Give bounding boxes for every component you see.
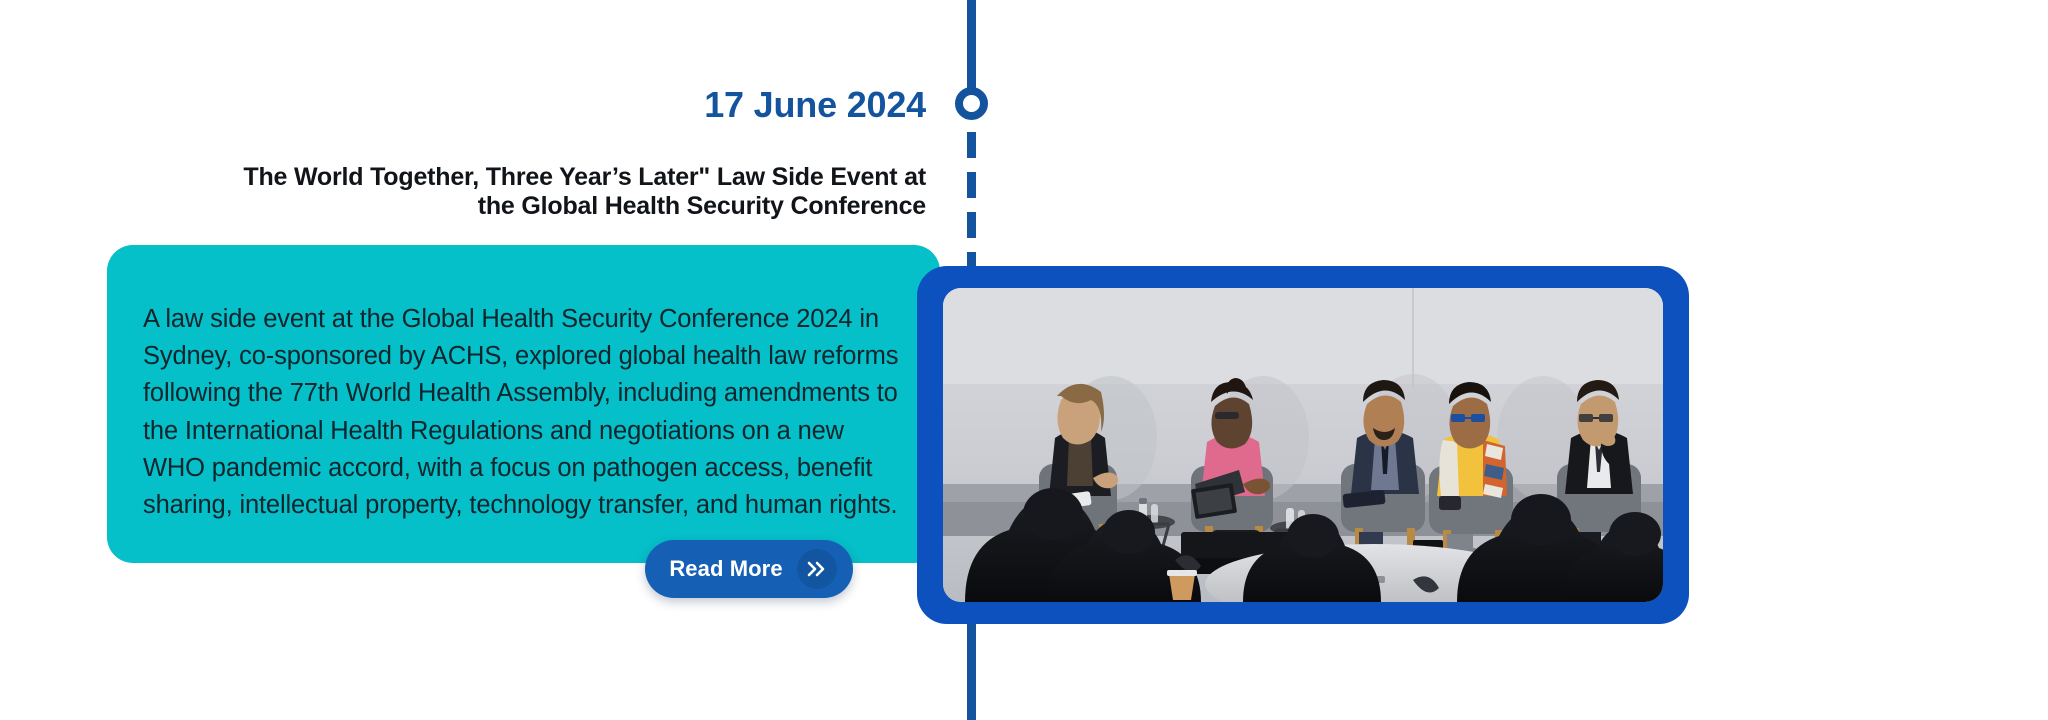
event-description-text: A law side event at the Global Health Se…: [143, 301, 904, 525]
timeline-node-ring-icon: [955, 87, 988, 120]
timeline-line-connector: [967, 252, 976, 266]
event-photo: [943, 288, 1663, 602]
event-image-card: [917, 266, 1689, 624]
event-date: 17 June 2024: [704, 87, 926, 123]
timeline-entry-section: 17 June 2024 The World Together, Three Y…: [0, 0, 2048, 720]
timeline-line-dashed: [967, 132, 976, 258]
event-description-panel: A law side event at the Global Health Se…: [107, 245, 940, 563]
event-title: The World Together, Three Year’s Later" …: [226, 163, 926, 221]
timeline-line-bottom: [967, 620, 976, 720]
read-more-label: Read More: [669, 556, 782, 582]
double-chevron-right-icon: [797, 549, 837, 589]
read-more-button[interactable]: Read More: [645, 540, 853, 598]
timeline-line-top: [967, 0, 976, 95]
